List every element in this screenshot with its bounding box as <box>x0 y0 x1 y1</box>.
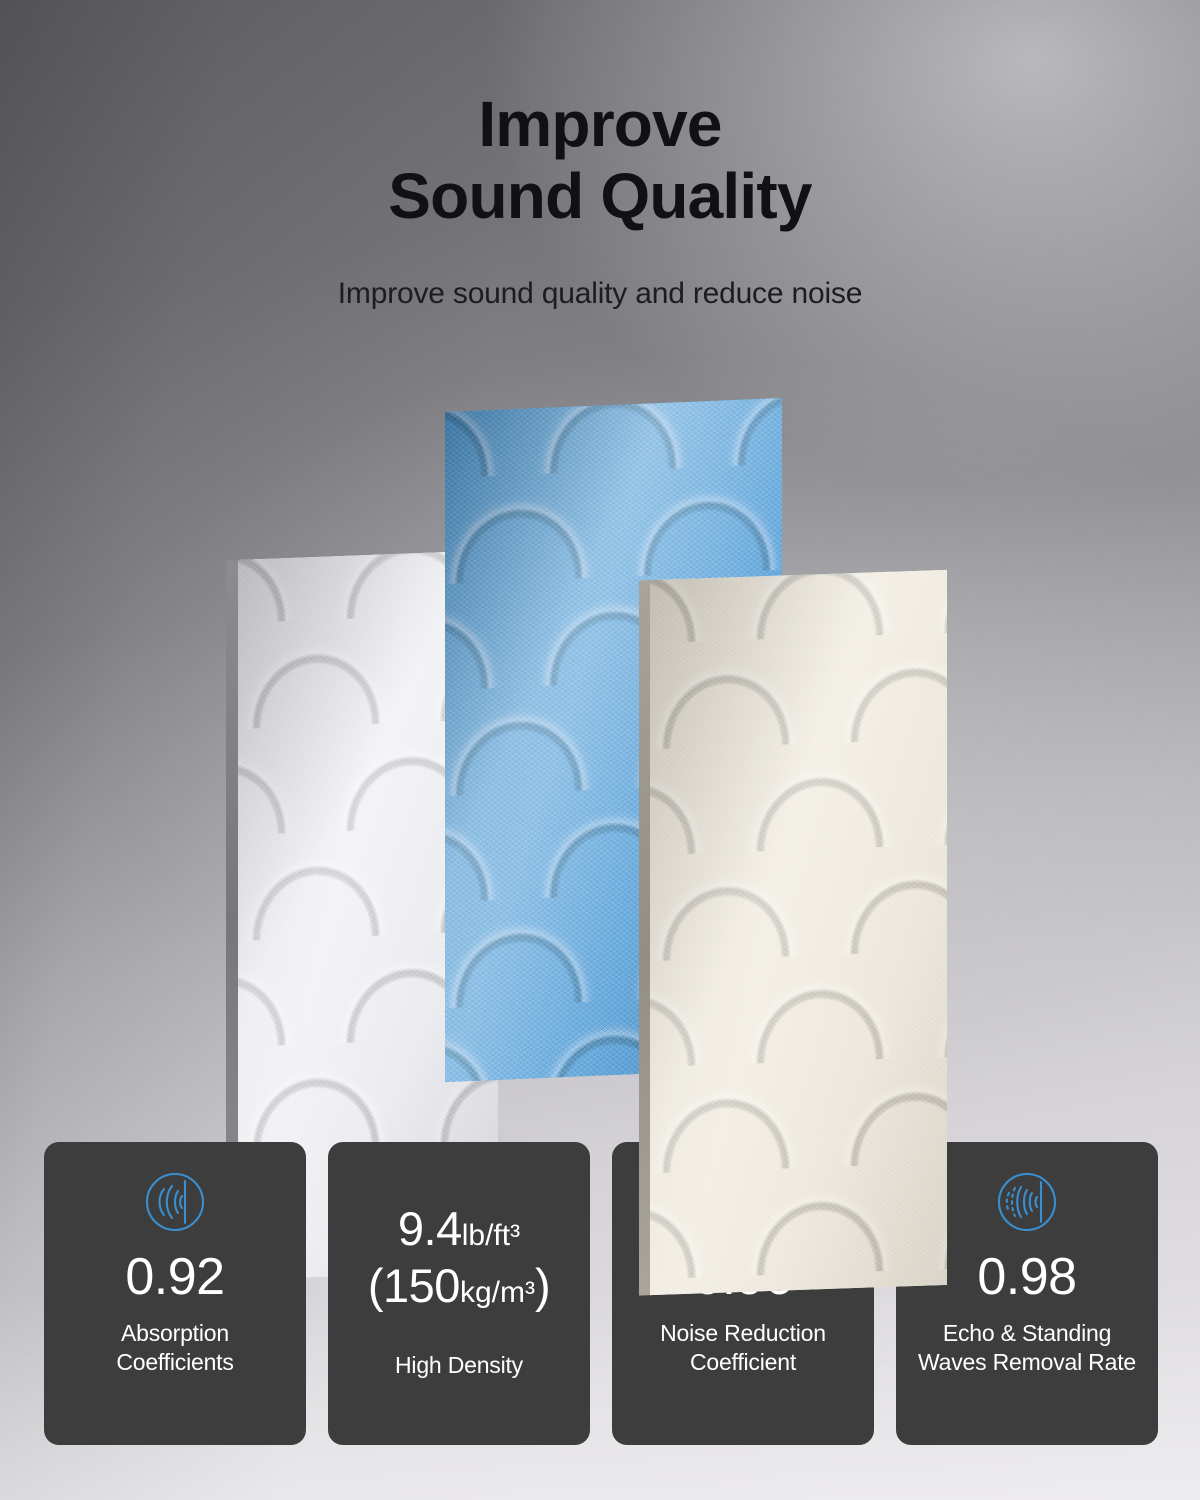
stat-label-line-1: High Density <box>395 1351 523 1380</box>
density-unit-imperial: lb/ft³ <box>462 1219 520 1252</box>
blue-panel-edge <box>433 412 445 1083</box>
title-line-1: Improve <box>0 88 1200 160</box>
stat-label: Absorption Coefficients <box>116 1319 233 1376</box>
sound-absorption-icon <box>144 1164 206 1240</box>
stat-label: Noise Reduction Coefficient <box>660 1319 826 1376</box>
beige-panel-face <box>650 570 947 1295</box>
stats-card-row: 0.92 Absorption Coefficients 9.4lb/ft³ (… <box>44 1142 1158 1445</box>
page-title: Improve Sound Quality <box>0 88 1200 233</box>
product-image <box>0 360 1200 1120</box>
stat-label-line-1: Noise Reduction <box>660 1319 826 1348</box>
density-value: 9.4lb/ft³ (150kg/m³) <box>368 1200 550 1315</box>
density-number-metric: (150 <box>368 1259 460 1312</box>
density-unit-metric: kg/m³ <box>460 1276 535 1309</box>
title-line-2: Sound Quality <box>0 160 1200 232</box>
beige-acoustic-panel <box>650 570 947 1295</box>
stat-label-line-1: Absorption <box>116 1319 233 1348</box>
density-value-metric: (150kg/m³) <box>368 1257 550 1314</box>
stat-label-line-1: Echo & Standing <box>918 1319 1136 1348</box>
stat-label-line-2: Waves Removal Rate <box>918 1348 1136 1377</box>
density-number-imperial: 9.4 <box>398 1202 462 1255</box>
echo-removal-icon <box>996 1164 1058 1240</box>
heading-block: Improve Sound Quality Improve sound qual… <box>0 0 1200 311</box>
stat-label: High Density <box>395 1351 523 1380</box>
density-paren-close: ) <box>535 1259 550 1312</box>
beige-panel-sheen <box>650 570 947 1295</box>
stat-value: 0.92 <box>125 1250 224 1305</box>
stat-label: Echo & Standing Waves Removal Rate <box>918 1319 1136 1376</box>
density-value-imperial: 9.4lb/ft³ <box>368 1200 550 1257</box>
stat-value: 0.98 <box>977 1250 1076 1305</box>
product-feature-page: Improve Sound Quality Improve sound qual… <box>0 0 1200 1500</box>
stat-label-line-2: Coefficients <box>116 1348 233 1377</box>
stat-label-line-2: Coefficient <box>660 1348 826 1377</box>
stat-card-absorption: 0.92 Absorption Coefficients <box>44 1142 306 1445</box>
page-subtitle: Improve sound quality and reduce noise <box>0 277 1200 311</box>
stat-card-density: 9.4lb/ft³ (150kg/m³) High Density <box>328 1142 590 1445</box>
